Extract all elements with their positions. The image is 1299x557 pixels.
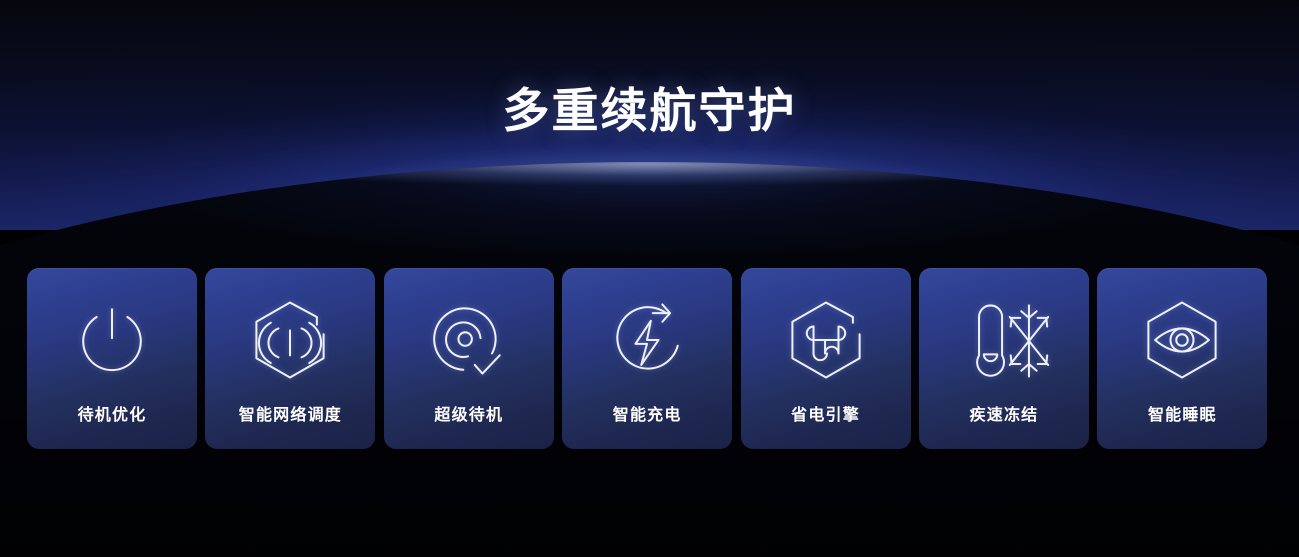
thermometer-snowflake-icon xyxy=(954,290,1054,390)
page-title: 多重续航守护 xyxy=(0,72,1299,141)
feature-card-list: 待机优化 智能网络调度 xyxy=(27,268,1272,449)
power-icon xyxy=(62,290,162,390)
feature-card-network[interactable]: 智能网络调度 xyxy=(205,268,375,449)
feature-card-label: 智能充电 xyxy=(613,401,682,425)
feature-card-label: 疾速冻结 xyxy=(970,401,1039,425)
feature-card-label: 智能网络调度 xyxy=(239,401,342,425)
promo-banner: 多重续航守护 待机优化 xyxy=(0,0,1299,557)
hexagon-eye-icon xyxy=(1132,290,1232,390)
feature-card-super-standby[interactable]: 超级待机 xyxy=(384,268,554,449)
feature-card-label: 智能睡眠 xyxy=(1148,401,1217,425)
feature-card-power-engine[interactable]: 省电引擎 xyxy=(741,268,911,449)
feature-card-label: 待机优化 xyxy=(78,401,147,425)
feature-card-smart-charge[interactable]: 智能充电 xyxy=(562,268,732,449)
feature-card-label: 省电引擎 xyxy=(791,401,860,425)
hexagon-wifi-icon xyxy=(240,290,340,390)
hexagon-knot-icon xyxy=(776,290,876,390)
feature-card-smart-sleep[interactable]: 智能睡眠 xyxy=(1097,268,1267,449)
charge-cycle-bolt-icon xyxy=(597,290,697,390)
radar-check-icon xyxy=(419,290,519,390)
feature-card-label: 超级待机 xyxy=(434,401,503,425)
feature-card-freeze[interactable]: 疾速冻结 xyxy=(919,268,1089,449)
feature-card-power[interactable]: 待机优化 xyxy=(27,268,197,449)
